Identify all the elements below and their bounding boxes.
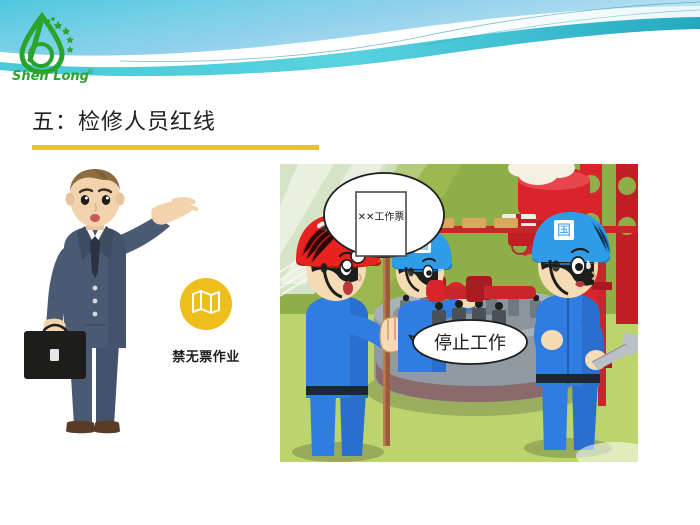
logo-wordmark: Shen Long bbox=[12, 69, 89, 84]
title-underline-rule bbox=[32, 145, 319, 150]
folded-map-icon bbox=[191, 289, 221, 319]
briefcase bbox=[24, 325, 86, 379]
page-title: 五：检修人员红线 bbox=[32, 108, 452, 138]
logo-registered-mark: ® bbox=[87, 68, 94, 76]
slide-header-banner bbox=[0, 0, 700, 95]
safety-cartoon-illustration: 国 bbox=[280, 164, 638, 462]
slide-title-block: 五：检修人员红线 bbox=[32, 108, 452, 150]
thought-bubble-text: ✕✕工作票 bbox=[358, 211, 405, 223]
speech-bubble-text: 停止工作 bbox=[434, 333, 506, 354]
badge-caption: 禁无票作业 bbox=[146, 346, 266, 365]
shen-long-logo: Shen Long ® Shen Long bbox=[8, 8, 104, 84]
badge-circle bbox=[180, 278, 232, 330]
svg-text:国: 国 bbox=[557, 223, 571, 239]
speech-bubble-stop-work: 停止工作 bbox=[410, 320, 527, 364]
slide: Shen Long ® Shen Long 五：检修人员红线 bbox=[0, 0, 700, 525]
no-ticket-work-badge-group: 禁无票作业 bbox=[146, 278, 266, 365]
